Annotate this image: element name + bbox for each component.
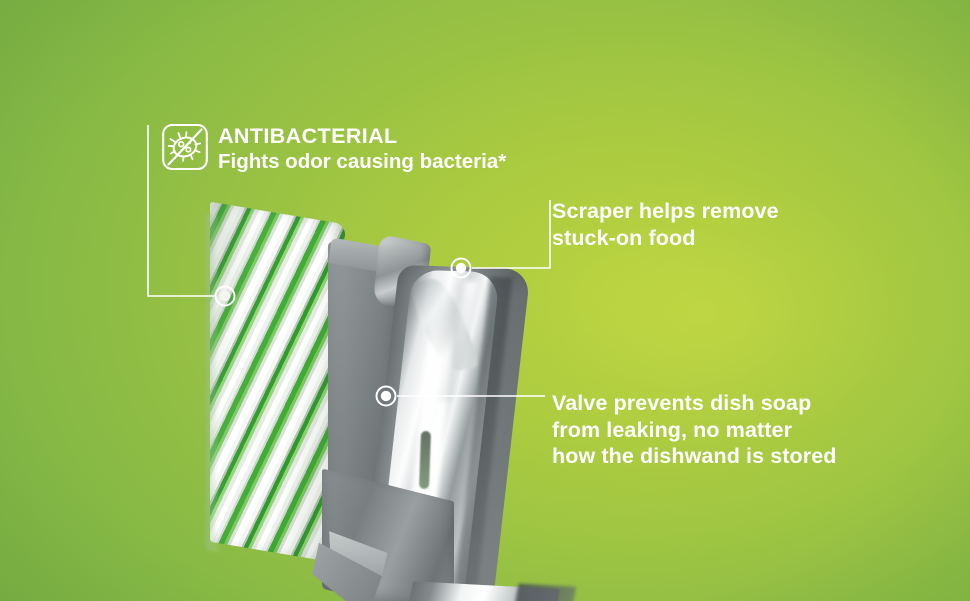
bacteria-crossed-out-icon xyxy=(161,122,209,172)
callout-valve-line-3: how the dishwand is stored xyxy=(552,443,882,470)
callout-scraper: Scraper helps remove stuck-on food xyxy=(552,198,852,251)
callout-scraper-line-1: Scraper helps remove xyxy=(552,198,852,225)
callout-antibacterial-body: Fights odor causing bacteria* xyxy=(218,149,638,174)
callout-antibacterial: ANTIBACTERIAL Fights odor causing bacter… xyxy=(218,124,638,174)
callout-scraper-line-2: stuck-on food xyxy=(552,225,852,252)
soap-valve xyxy=(419,431,431,489)
callout-valve-line-2: from leaking, no matter xyxy=(552,417,882,444)
callout-valve: Valve prevents dish soap from leaking, n… xyxy=(552,390,882,470)
brush-bristles-edge xyxy=(206,214,218,552)
callout-valve-line-1: Valve prevents dish soap xyxy=(552,390,882,417)
callout-antibacterial-heading: ANTIBACTERIAL xyxy=(218,124,638,148)
infographic-canvas: ANTIBACTERIAL Fights odor causing bacter… xyxy=(0,0,970,601)
product-image-dishwand xyxy=(180,185,600,601)
